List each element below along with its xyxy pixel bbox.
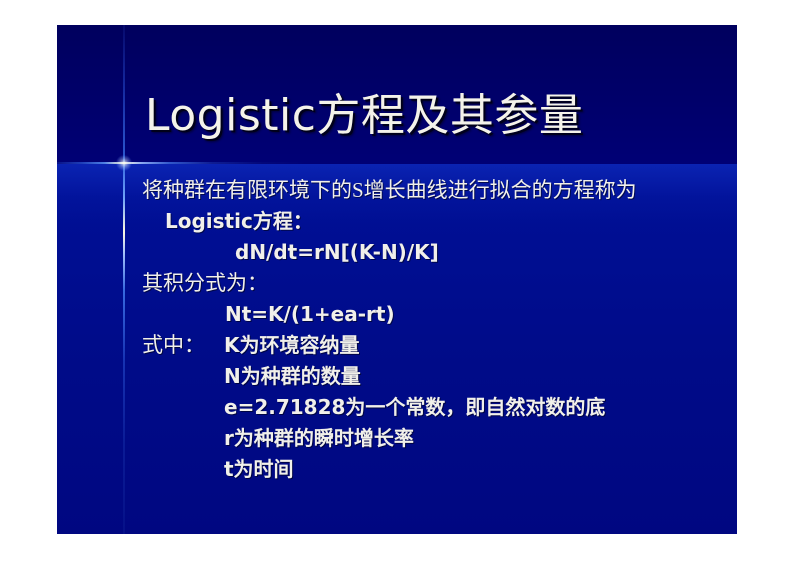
- term-t-line: t为时间: [57, 454, 737, 485]
- formula-integral: Nt=K/(1+ea-rt): [57, 299, 737, 330]
- term-r-line: r为种群的瞬时增长率: [57, 423, 737, 454]
- term-n: N为种群的数量: [224, 364, 361, 388]
- term-k: K为环境容纳量: [224, 333, 360, 357]
- slide-title: Logistic方程及其参量: [145, 89, 583, 143]
- body-line-where: 式中：K为环境容纳量: [57, 330, 737, 361]
- slide-body: 将种群在有限环境下的S增长曲线进行拟合的方程称为 Logistic方程： dN/…: [57, 175, 737, 485]
- term-e: e=2.71828为一个常数，即自然对数的底: [224, 395, 605, 419]
- where-label: 式中：: [142, 330, 224, 361]
- term-t: t为时间: [224, 457, 294, 481]
- term-e-line: e=2.71828为一个常数，即自然对数的底: [57, 392, 737, 423]
- formula-differential: dN/dt=rN[(K-N)/K]: [57, 237, 737, 268]
- presentation-slide: Logistic方程及其参量 将种群在有限环境下的S增长曲线进行拟合的方程称为 …: [57, 25, 737, 534]
- body-line-intro-1: 将种群在有限环境下的S增长曲线进行拟合的方程称为: [57, 175, 737, 206]
- decorative-horizontal-line-icon: [57, 162, 307, 164]
- body-line-intro-2: Logistic方程：: [57, 206, 737, 237]
- slide-page: Logistic方程及其参量 将种群在有限环境下的S增长曲线进行拟合的方程称为 …: [0, 0, 793, 561]
- decorative-cross-glow-icon: [116, 155, 132, 171]
- term-n-line: N为种群的数量: [57, 361, 737, 392]
- term-r: r为种群的瞬时增长率: [224, 426, 414, 450]
- body-line-integral-label: 其积分式为：: [57, 268, 737, 299]
